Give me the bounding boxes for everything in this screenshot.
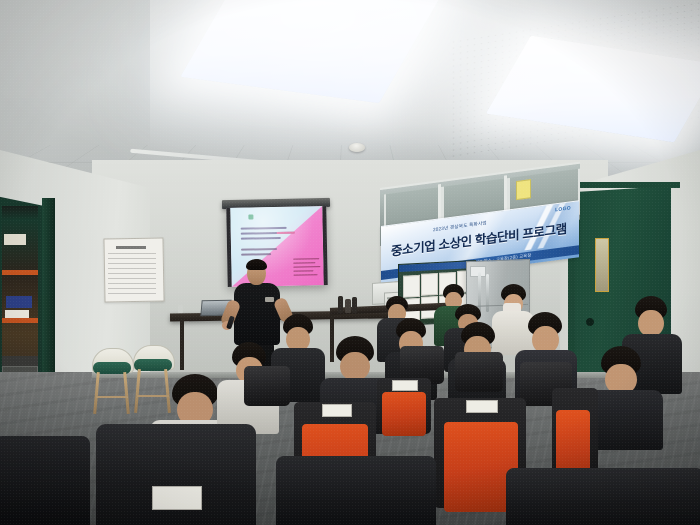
projector-screen <box>226 206 327 287</box>
warehouse-rack <box>2 270 38 275</box>
presenter-shirt-logo <box>265 297 274 302</box>
chair-back-dark <box>244 366 290 406</box>
chair-seat-tag <box>152 486 202 510</box>
window-posted-note <box>516 179 531 200</box>
stool-rail <box>96 396 128 398</box>
board-sheet <box>421 273 438 296</box>
warehouse-box <box>5 310 29 318</box>
water-bottle <box>345 299 351 313</box>
chair-seat-tag <box>466 400 498 413</box>
attendee-head <box>340 352 370 380</box>
attendee-head <box>532 326 559 353</box>
stool-rail <box>137 395 169 397</box>
photo-scene: LOGO 2023년 경상북도 특화사업 중소기업 소상인 학습단비 프로그램 … <box>0 0 700 525</box>
counter-leg <box>180 318 184 370</box>
attendee-head <box>638 310 664 336</box>
water-bottle <box>352 297 357 313</box>
chair-back-foreground <box>276 456 436 525</box>
wall-notice-text-lines <box>108 252 156 294</box>
counter-leg <box>330 314 334 362</box>
attendee-torso <box>492 311 534 355</box>
board-sheet <box>403 275 420 298</box>
right-door-handle[interactable] <box>586 318 594 326</box>
screen-glare <box>230 206 323 287</box>
presenter-hair <box>246 259 267 270</box>
water-bottle <box>338 296 343 313</box>
right-door-window <box>595 238 609 292</box>
warehouse-rack <box>2 318 38 323</box>
chair-seat-tag <box>322 404 352 417</box>
chair-back-foreground <box>0 436 90 525</box>
warehouse-box <box>6 296 32 308</box>
smoke-detector-icon <box>349 143 365 152</box>
wall-notice-title <box>116 246 146 249</box>
chair-back-dark <box>455 352 503 392</box>
presenter-torso <box>234 283 280 345</box>
chair-mesh-back <box>382 392 426 436</box>
warehouse-box <box>4 234 26 245</box>
cup <box>178 305 183 313</box>
chair-back-foreground <box>506 468 700 525</box>
chair-seat-tag <box>392 380 418 391</box>
